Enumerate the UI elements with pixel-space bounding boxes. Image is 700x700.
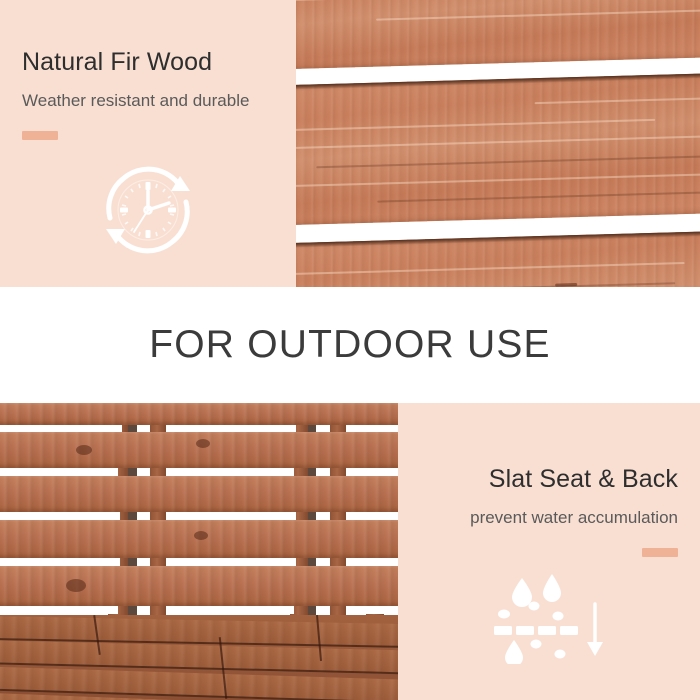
slat-edge-shadow: [296, 230, 700, 249]
product-feature-poster: Natural Fir Wood Weather resistant and d…: [0, 0, 700, 700]
slat-edge-shadow: [296, 72, 700, 91]
wood-slat: [296, 72, 700, 226]
bench-backrest: [0, 403, 398, 621]
bench-slat-gap: [166, 606, 294, 614]
wood-knot: [194, 531, 208, 540]
photo-bench-slat-detail: [0, 403, 398, 700]
feature-subtitle-slat-seat-and-back: prevent water accumulation: [470, 508, 678, 528]
bench-slat-gap: [346, 468, 398, 476]
bench-slat: [0, 566, 398, 606]
bench-seat: [0, 615, 398, 700]
wood-grain-line: [296, 262, 685, 275]
bench-slat-gap: [0, 558, 120, 566]
bench-slat: [0, 476, 398, 512]
bench-slat-gap: [0, 425, 122, 432]
wood-knot: [66, 579, 86, 592]
feature-subtitle-natural-fir-wood: Weather resistant and durable: [22, 91, 249, 111]
feature-title-slat-seat-and-back: Slat Seat & Back: [470, 465, 678, 494]
wood-grain-line: [296, 0, 585, 1]
bench-slat-gap: [166, 558, 296, 566]
bench-slat-gap: [0, 468, 118, 476]
feature-panel-natural-fir-wood: Natural Fir Wood Weather resistant and d…: [0, 0, 296, 287]
wood-knot: [196, 439, 210, 448]
wood-grain-line: [296, 173, 700, 188]
outdoor-use-banner: FOR OUTDOOR USE: [0, 287, 700, 403]
bench-slat-gap: [346, 425, 398, 432]
accent-dash-top-left: [22, 131, 58, 140]
bench-slat-gap: [166, 468, 294, 476]
wood-slat: [296, 0, 700, 70]
bench-slat-gap: [346, 558, 398, 566]
bench-slat-gap: [166, 512, 296, 520]
bench-slat: [0, 432, 398, 468]
feature-title-natural-fir-wood: Natural Fir Wood: [22, 48, 249, 77]
feature-text-block-top-left: Natural Fir Wood Weather resistant and d…: [22, 48, 249, 140]
wood-grain-line: [535, 97, 700, 105]
wood-grain-line: [316, 155, 700, 168]
top-section: Natural Fir Wood Weather resistant and d…: [0, 0, 700, 287]
wood-slat: [296, 230, 700, 287]
feature-text-block-bottom-right: Slat Seat & Back prevent water accumulat…: [470, 465, 678, 557]
clock-rotate-icon: [96, 158, 200, 262]
wood-grain-line: [296, 119, 655, 132]
bench-slat-gap: [346, 512, 398, 520]
wood-grain-line: [376, 9, 700, 20]
wood-grain-line: [296, 135, 700, 149]
accent-dash-bottom-right: [642, 548, 678, 557]
banner-headline: FOR OUTDOOR USE: [149, 323, 551, 367]
water-drainage-icon: [492, 572, 608, 664]
wood-knot: [76, 445, 92, 455]
photo-wood-grain-closeup: [296, 0, 700, 287]
bench-slat-gap: [0, 512, 120, 520]
wood-grain-line: [377, 191, 700, 202]
bench-slat-gap: [166, 425, 296, 432]
bench-slat-gap: [0, 606, 118, 614]
bench-slat-gap: [346, 606, 398, 614]
bench-slat: [0, 403, 398, 425]
